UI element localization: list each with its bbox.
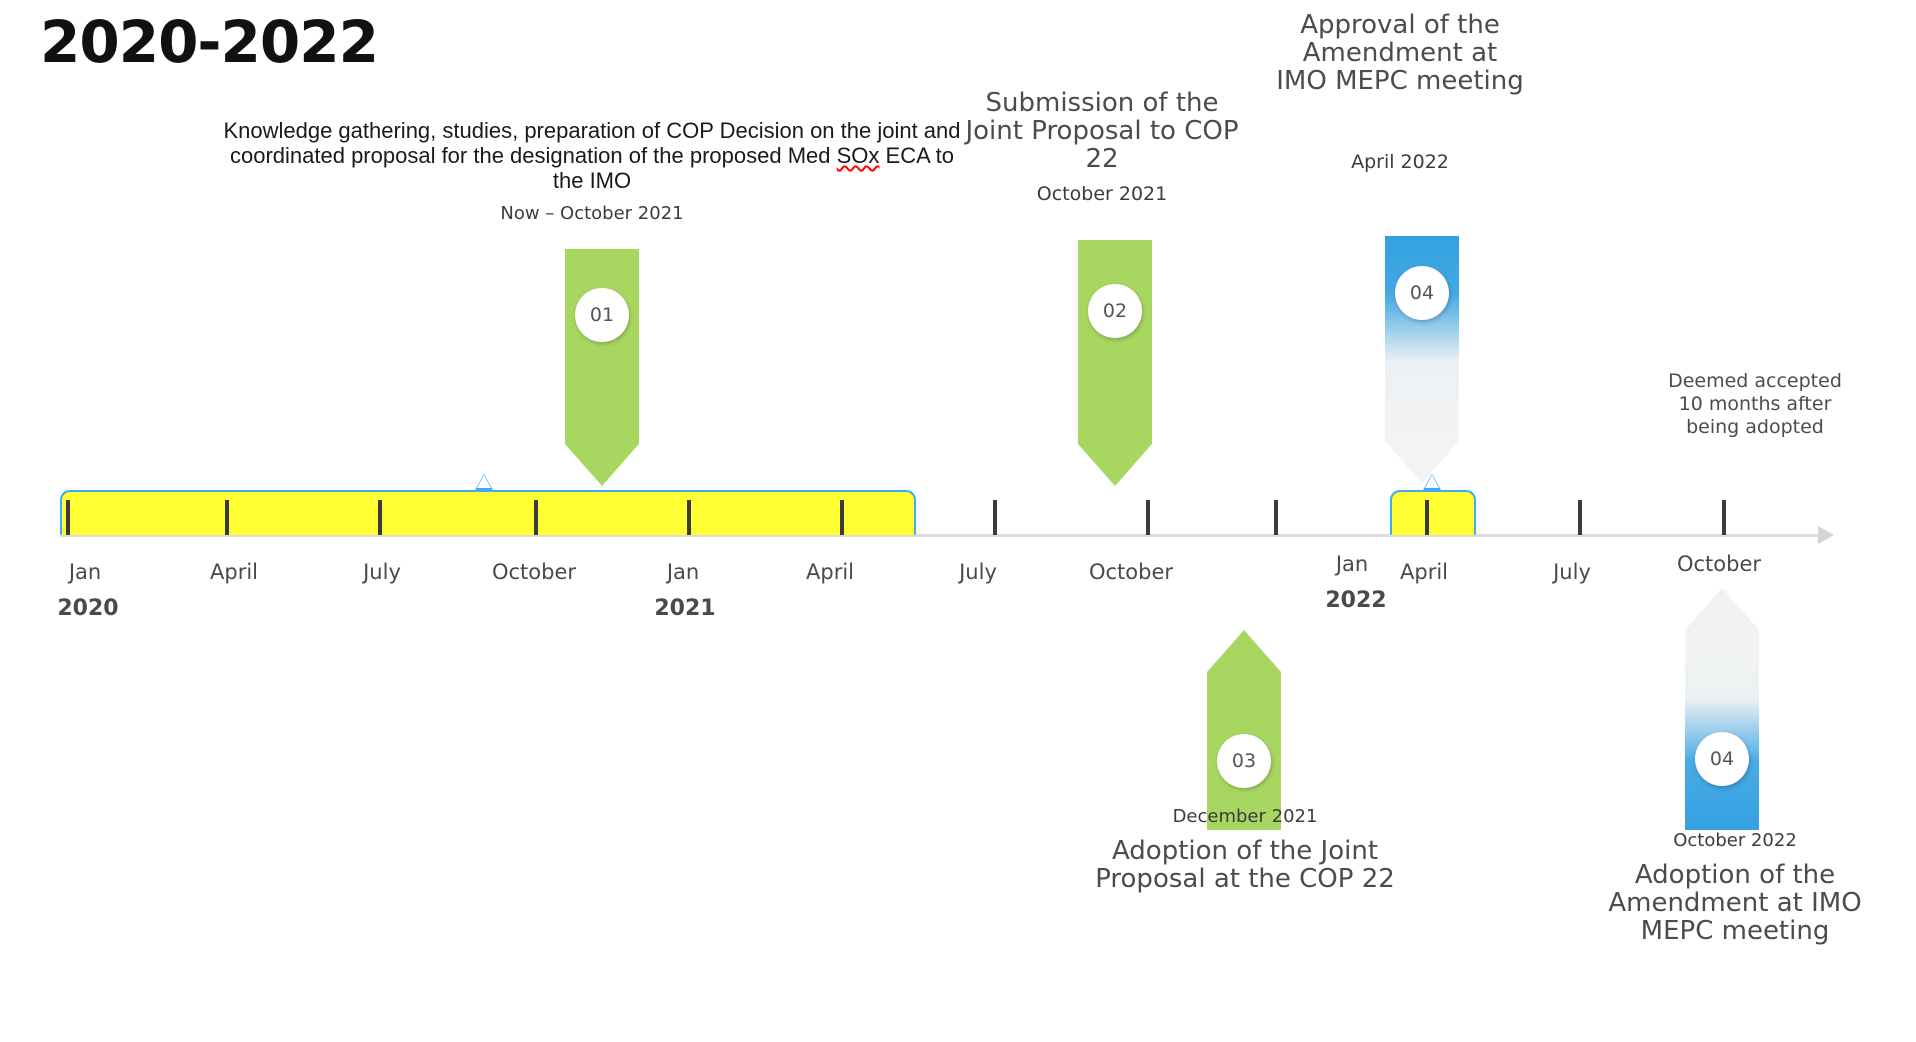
axis-label-jan-2020: Jan: [5, 560, 165, 584]
milestone-04b-date: October 2022: [1580, 830, 1890, 851]
milestone-04a-badge: 04: [1395, 266, 1449, 320]
milestone-marker-04b[interactable]: 04: [1685, 588, 1759, 830]
axis-year-2020: 2020: [8, 596, 168, 621]
milestone-01-callout: Knowledge gathering, studies, preparatio…: [222, 118, 962, 224]
milestone-02-date: October 2021: [962, 183, 1242, 205]
milestone-02-headline: Submission of the Joint Proposal to COP …: [962, 90, 1242, 173]
milestone-marker-01[interactable]: 01: [565, 249, 639, 486]
axis-tick-july-2021: [993, 500, 997, 535]
milestone-marker-04a[interactable]: 04: [1385, 236, 1459, 483]
axis-tick-jan-2022: [1274, 500, 1278, 535]
milestone-02-callout: Submission of the Joint Proposal to COP …: [962, 90, 1242, 205]
milestone-01-headline: Knowledge gathering, studies, preparatio…: [222, 118, 962, 193]
axis-year-2021: 2021: [605, 596, 765, 621]
axis-label-jan-2021: Jan: [603, 560, 763, 584]
axis-tick-october-2022: [1722, 500, 1726, 535]
axis-label-october-2020: October: [454, 560, 614, 584]
milestone-04a-date: April 2022: [1275, 151, 1525, 173]
axis-tick-april-2022: [1425, 500, 1429, 535]
axis-year-2022: 2022: [1276, 588, 1436, 613]
milestone-04b-callout: October 2022 Adoption of the Amendment a…: [1580, 830, 1890, 945]
milestone-marker-02[interactable]: 02: [1078, 240, 1152, 486]
axis-label-july-2021: July: [898, 560, 1058, 584]
axis-label-july-2022: July: [1492, 560, 1652, 584]
axis-label-july-2020: July: [302, 560, 462, 584]
milestone-04b-badge: 04: [1695, 732, 1749, 786]
milestone-01-date: Now – October 2021: [222, 203, 962, 224]
axis-tick-jan-2021: [687, 500, 691, 535]
axis-label-april-2020: April: [154, 560, 314, 584]
axis-label-october-2021: October: [1051, 560, 1211, 584]
milestone-01-badge: 01: [575, 288, 629, 342]
deemed-accepted-note: Deemed accepted 10 months after being ad…: [1655, 370, 1855, 440]
deemed-accepted-note-text: Deemed accepted 10 months after being ad…: [1655, 370, 1855, 440]
axis-tick-jan-2020: [66, 500, 70, 535]
axis-label-october-2022: October: [1639, 552, 1799, 576]
axis-tick-october-2021: [1146, 500, 1150, 535]
milestone-04a-callout: Approval of the Amendment at IMO MEPC me…: [1275, 12, 1525, 173]
axis-tick-april-2020: [225, 500, 229, 535]
highlight-band-october-2022: [1390, 490, 1476, 535]
axis-tick-april-2021: [840, 500, 844, 535]
highlight-band-notch-inner-1: [477, 475, 491, 488]
milestone-04a-headline: Approval of the Amendment at IMO MEPC me…: [1275, 12, 1525, 95]
milestone-01-headline-misspelled-word: SOx: [837, 143, 880, 168]
axis-tick-october-2020: [534, 500, 538, 535]
axis-arrowhead-icon: [1818, 526, 1834, 544]
axis-label-april-2021: April: [750, 560, 910, 584]
milestone-03-callout: December 2021 Adoption of the Joint Prop…: [1090, 806, 1400, 894]
milestone-04b-headline: Adoption of the Amendment at IMO MEPC me…: [1580, 862, 1890, 945]
milestone-marker-03[interactable]: 03: [1207, 630, 1281, 830]
milestone-03-date: December 2021: [1090, 806, 1400, 827]
highlight-band-now-to-october-2021: [60, 490, 916, 535]
axis-label-april-2022: April: [1344, 560, 1504, 584]
milestone-03-badge: 03: [1217, 734, 1271, 788]
milestone-02-badge: 02: [1088, 284, 1142, 338]
milestone-03-headline: Adoption of the Joint Proposal at the CO…: [1090, 838, 1400, 894]
axis-tick-july-2020: [378, 500, 382, 535]
axis-tick-july-2022: [1578, 500, 1582, 535]
